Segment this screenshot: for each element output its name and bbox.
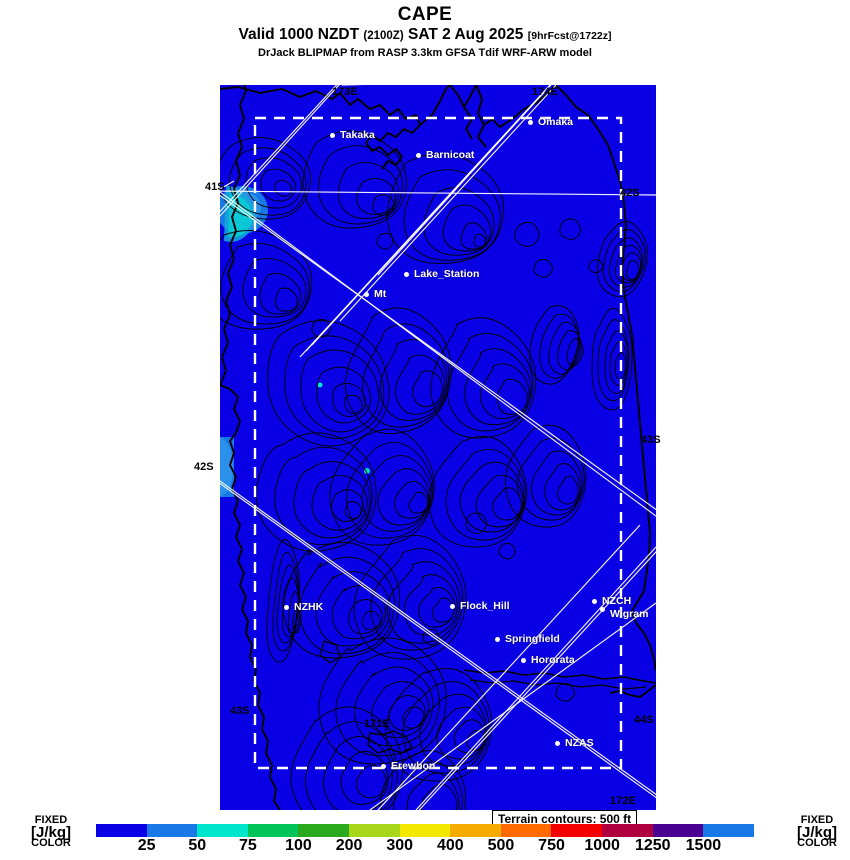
forecast-age: [9hrFcst@1722z] — [528, 30, 612, 42]
colorbar-tick: 200 — [336, 837, 363, 855]
colorbar-swatch — [349, 824, 400, 837]
station-label: Wigram — [610, 608, 648, 620]
station-marker[interactable] — [528, 120, 533, 125]
station-label: Omaka — [538, 116, 573, 128]
colorbar-swatch — [248, 824, 299, 837]
colorbar-color-label-right: COLOR — [786, 838, 848, 850]
station-label: NZCH — [602, 595, 631, 607]
station-marker[interactable] — [555, 741, 560, 746]
station-label: Erewhon — [391, 760, 435, 772]
station-marker[interactable] — [381, 764, 386, 769]
colorbar-tick: 50 — [188, 837, 206, 855]
colorbar-swatch — [96, 824, 147, 837]
colorbar-tick: 1000 — [584, 837, 620, 855]
colorbar-swatch — [653, 824, 704, 837]
station-marker[interactable] — [450, 604, 455, 609]
forecast-map[interactable]: TakakaOmakaBarnicoatLake_StationMtNZHKFl… — [220, 85, 656, 810]
graticule-label: 174E — [532, 86, 558, 98]
station-label: Springfield — [505, 633, 560, 645]
colorbar-tick: 400 — [437, 837, 464, 855]
station-label: NZAS — [565, 737, 594, 749]
chart-header: CAPE Valid 1000 NZDT (2100Z) SAT 2 Aug 2… — [0, 0, 850, 72]
colorbar-swatch — [197, 824, 248, 837]
colorbar-tick: 300 — [386, 837, 413, 855]
valid-date: SAT 2 Aug 2025 — [408, 26, 523, 43]
station-marker[interactable] — [600, 607, 605, 612]
colorbar-units-left: FIXED [J/kg] COLOR — [20, 815, 82, 850]
valid-utc-time: (2100Z) — [363, 30, 403, 42]
colorbar-units-right: FIXED [J/kg] COLOR — [786, 815, 848, 850]
colorbar-tick: 500 — [488, 837, 515, 855]
station-label: Mt — [374, 288, 386, 300]
colorbar-tick: 750 — [538, 837, 565, 855]
station-marker[interactable] — [416, 153, 421, 158]
station-label: Lake_Station — [414, 268, 479, 280]
station-marker[interactable] — [592, 599, 597, 604]
colorbar-tick: 100 — [285, 837, 312, 855]
station-marker[interactable] — [284, 605, 289, 610]
colorbar-tick: 75 — [239, 837, 257, 855]
colorbar-swatch — [450, 824, 501, 837]
colorbar-swatch — [703, 824, 754, 837]
colorbar-legend: FIXED [J/kg] COLOR 255075100200300400500… — [0, 824, 850, 860]
station-label: NZHK — [294, 601, 323, 613]
model-description: DrJack BLIPMAP from RASP 3.3km GFSA Tdif… — [0, 46, 850, 61]
graticule-label: 43S — [230, 705, 250, 717]
graticule-label: 171E — [364, 718, 390, 730]
colorbar-tick: 25 — [138, 837, 156, 855]
valid-time-line: Valid 1000 NZDT (2100Z) SAT 2 Aug 2025 [… — [0, 25, 850, 46]
station-label: Barnicoat — [426, 149, 474, 161]
colorbar-swatch — [501, 824, 552, 837]
station-marker[interactable] — [495, 637, 500, 642]
colorbar-swatch — [551, 824, 602, 837]
graticule-label: 173E — [332, 86, 358, 98]
station-marker[interactable] — [330, 133, 335, 138]
graticule-label: 42S — [194, 461, 214, 473]
colorbar-swatch — [602, 824, 653, 837]
colorbar-swatch — [147, 824, 198, 837]
station-label: Hororata — [531, 654, 575, 666]
valid-local-time: Valid 1000 NZDT — [238, 26, 359, 43]
map-graphics — [220, 85, 656, 810]
colorbar-tick: 1500 — [686, 837, 722, 855]
station-marker[interactable] — [364, 292, 369, 297]
graticule-label: 172E — [610, 795, 636, 807]
graticule-label: 41S — [205, 181, 225, 193]
graticule-label: 43S — [641, 434, 661, 446]
colorbar-tick-labels: 255075100200300400500750100012501500 — [96, 837, 754, 859]
colorbar-tick: 1250 — [635, 837, 671, 855]
graticule-label: 42S — [620, 187, 640, 199]
station-label: Flock_Hill — [460, 600, 510, 612]
station-label: Takaka — [340, 129, 375, 141]
colorbar-swatches — [96, 824, 754, 837]
page-title: CAPE — [0, 5, 850, 25]
station-marker[interactable] — [404, 272, 409, 277]
graticule-label: 44S — [634, 714, 654, 726]
station-marker[interactable] — [521, 658, 526, 663]
colorbar-swatch — [298, 824, 349, 837]
colorbar-swatch — [400, 824, 451, 837]
colorbar-color-label-left: COLOR — [20, 838, 82, 850]
